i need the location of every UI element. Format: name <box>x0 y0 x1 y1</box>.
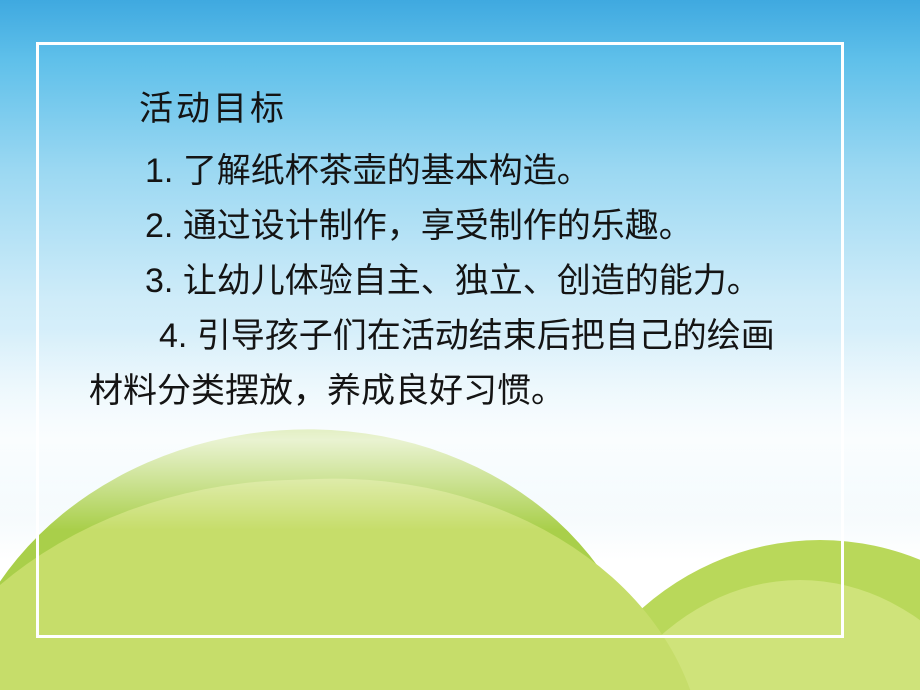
list-item-text: 了解纸杯茶壶的基本构造。 <box>183 152 591 190</box>
list-item: 3. 让幼儿体验自主、独立、创造的能力。 <box>145 254 813 309</box>
list-item-number: 1. <box>145 152 173 190</box>
list-item-text: 通过设计制作，享受制作的乐趣。 <box>183 207 693 245</box>
list-item-number: 3. <box>145 262 173 300</box>
list-item-continuation: 材料分类摆放，养成良好习惯。 <box>89 364 813 419</box>
list-item-text: 让幼儿体验自主、独立、创造的能力。 <box>183 262 761 300</box>
page-title: 活动目标 <box>139 89 813 130</box>
list-item: 4. 引导孩子们在活动结束后把自己的绘画 <box>159 309 813 364</box>
list-item: 1. 了解纸杯茶壶的基本构造。 <box>145 144 813 199</box>
list-item: 2. 通过设计制作，享受制作的乐趣。 <box>145 199 813 254</box>
content-card: 活动目标 1. 了解纸杯茶壶的基本构造。 2. 通过设计制作，享受制作的乐趣。 … <box>36 42 844 638</box>
content-body: 活动目标 1. 了解纸杯茶壶的基本构造。 2. 通过设计制作，享受制作的乐趣。 … <box>39 45 841 635</box>
slide: 活动目标 1. 了解纸杯茶壶的基本构造。 2. 通过设计制作，享受制作的乐趣。 … <box>0 0 920 690</box>
list-item-text: 引导孩子们在活动结束后把自己的绘画 <box>197 317 775 355</box>
list-item-number: 4. <box>159 317 187 355</box>
list-item-number: 2. <box>145 207 173 245</box>
list-item-text: 材料分类摆放，养成良好习惯。 <box>89 372 565 410</box>
